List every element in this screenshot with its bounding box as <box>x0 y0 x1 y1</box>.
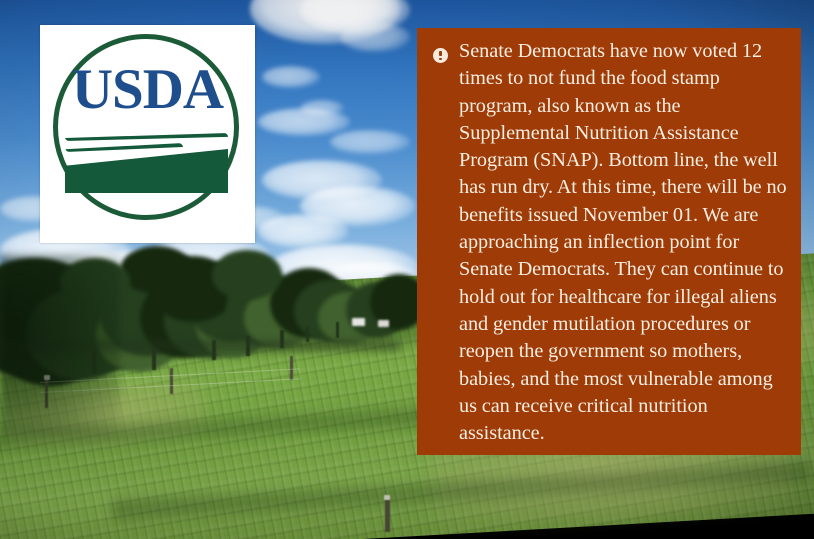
foreground-shadow <box>0 255 120 435</box>
tree-trunk <box>336 322 339 338</box>
tree-canopy <box>212 250 282 300</box>
usda-logo-card: USDA <box>40 25 255 243</box>
statement-text: Senate Democrats have now voted 12 times… <box>459 38 787 447</box>
usda-wordmark: USDA <box>40 61 255 118</box>
tree-canopy <box>120 246 194 294</box>
distant-building <box>352 318 365 326</box>
distant-building <box>378 320 389 327</box>
usda-field-stripe <box>65 133 228 141</box>
screenshot-root: USDA Senate Democrats have now voted 12 … <box>0 0 814 539</box>
usda-field-icon <box>65 131 228 193</box>
usda-field-stripe <box>65 143 183 152</box>
statement-callout: Senate Democrats have now voted 12 times… <box>417 28 801 455</box>
alert-circle-icon <box>433 48 448 63</box>
fence-post-cap <box>384 495 390 500</box>
fence-post <box>170 368 173 394</box>
fence-post <box>385 498 390 532</box>
tree-trunk <box>152 348 156 370</box>
usda-field-block <box>65 149 228 193</box>
